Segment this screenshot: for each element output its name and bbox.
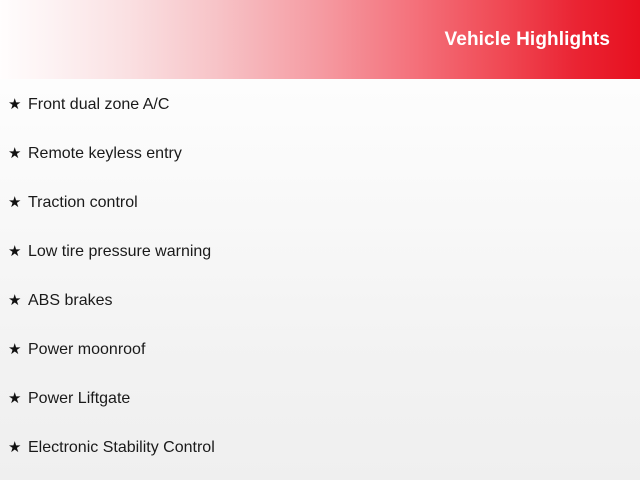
vehicle-highlights-list: ★ Front dual zone A/C ★ Remote keyless e… [0, 97, 640, 489]
list-item: ★ Remote keyless entry [0, 146, 640, 195]
list-item: ★ Traction control [0, 195, 640, 244]
list-item: ★ Power moonroof [0, 342, 640, 391]
star-icon: ★ [8, 391, 28, 406]
highlight-label: Traction control [28, 195, 640, 211]
star-icon: ★ [8, 146, 28, 161]
list-item: ★ ABS brakes [0, 293, 640, 342]
highlight-label: Remote keyless entry [28, 146, 640, 162]
highlight-label: Electronic Stability Control [28, 440, 640, 456]
star-icon: ★ [8, 244, 28, 259]
highlight-label: Power moonroof [28, 342, 640, 358]
star-icon: ★ [8, 195, 28, 210]
list-item: ★ Front dual zone A/C [0, 97, 640, 146]
highlight-label: ABS brakes [28, 293, 640, 309]
header-banner: Vehicle Highlights [0, 0, 640, 79]
list-item: ★ Power Liftgate [0, 391, 640, 440]
star-icon: ★ [8, 293, 28, 308]
page-title: Vehicle Highlights [445, 30, 610, 49]
highlight-label: Power Liftgate [28, 391, 640, 407]
star-icon: ★ [8, 342, 28, 357]
star-icon: ★ [8, 97, 28, 112]
highlights-content: ★ Front dual zone A/C ★ Remote keyless e… [0, 79, 640, 489]
vehicle-highlights-page: Vehicle Highlights ★ Front dual zone A/C… [0, 0, 640, 480]
highlight-label: Low tire pressure warning [28, 244, 640, 260]
star-icon: ★ [8, 440, 28, 455]
highlight-label: Front dual zone A/C [28, 97, 640, 113]
list-item: ★ Electronic Stability Control [0, 440, 640, 489]
list-item: ★ Low tire pressure warning [0, 244, 640, 293]
